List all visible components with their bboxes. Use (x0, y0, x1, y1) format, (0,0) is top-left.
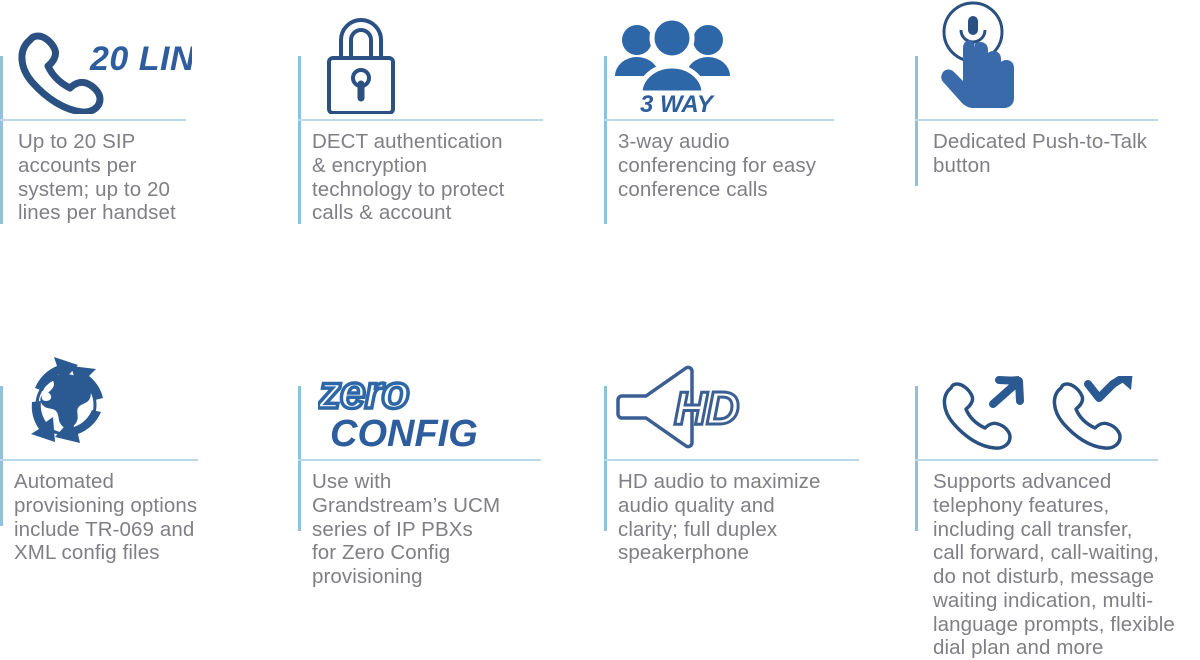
divider-rule (604, 119, 834, 121)
svg-text:20 LINES: 20 LINES (89, 40, 192, 78)
svg-text:CONFIG: CONFIG (330, 413, 478, 455)
feature-description: 3-way audio conferencing for easy confer… (618, 130, 898, 201)
feature-description: Supports advanced telephony features, in… (933, 470, 1200, 660)
svg-text:3 WAY: 3 WAY (640, 91, 715, 114)
feature-description: Up to 20 SIP accounts per system; up to … (18, 130, 286, 225)
feature-description: DECT authentication & encryption technol… (312, 130, 587, 225)
divider-rule (0, 119, 186, 121)
three-people-3-way-icon: 3 WAY (610, 8, 740, 114)
phone-handset-20-lines-icon: 20 LINES (12, 26, 192, 114)
feature-grid: 20 LINES Up to 20 SIP accounts per syste… (0, 0, 1200, 641)
vertical-accent-rule (604, 56, 607, 224)
zero-config-wordmark-icon: zero CONFIG (318, 366, 498, 456)
globe-sync-arrows-icon (8, 352, 128, 456)
feature-description: Automated provisioning options include T… (14, 470, 294, 565)
speaker-hd-icon: HD (612, 362, 752, 454)
svg-text:HD: HD (674, 382, 738, 434)
divider-rule (604, 459, 859, 461)
divider-rule (915, 119, 1158, 121)
vertical-accent-rule (915, 56, 918, 186)
padlock-icon (322, 10, 402, 114)
hand-pressing-microphone-button-icon (933, 0, 1043, 112)
divider-rule (298, 459, 541, 461)
feature-description: HD audio to maximize audio quality and c… (618, 470, 898, 565)
divider-rule (298, 119, 543, 121)
divider-rule (0, 459, 198, 461)
vertical-accent-rule (0, 56, 3, 224)
call-transfer-forward-handsets-icon (933, 376, 1143, 454)
feature-description: Dedicated Push-to-Talk button (933, 130, 1200, 178)
vertical-accent-rule (298, 56, 301, 224)
vertical-accent-rule (0, 386, 3, 526)
svg-text:zero: zero (318, 366, 409, 418)
divider-rule (915, 459, 1158, 461)
feature-description: Use with Grandstream’s UCM series of IP … (312, 470, 592, 589)
